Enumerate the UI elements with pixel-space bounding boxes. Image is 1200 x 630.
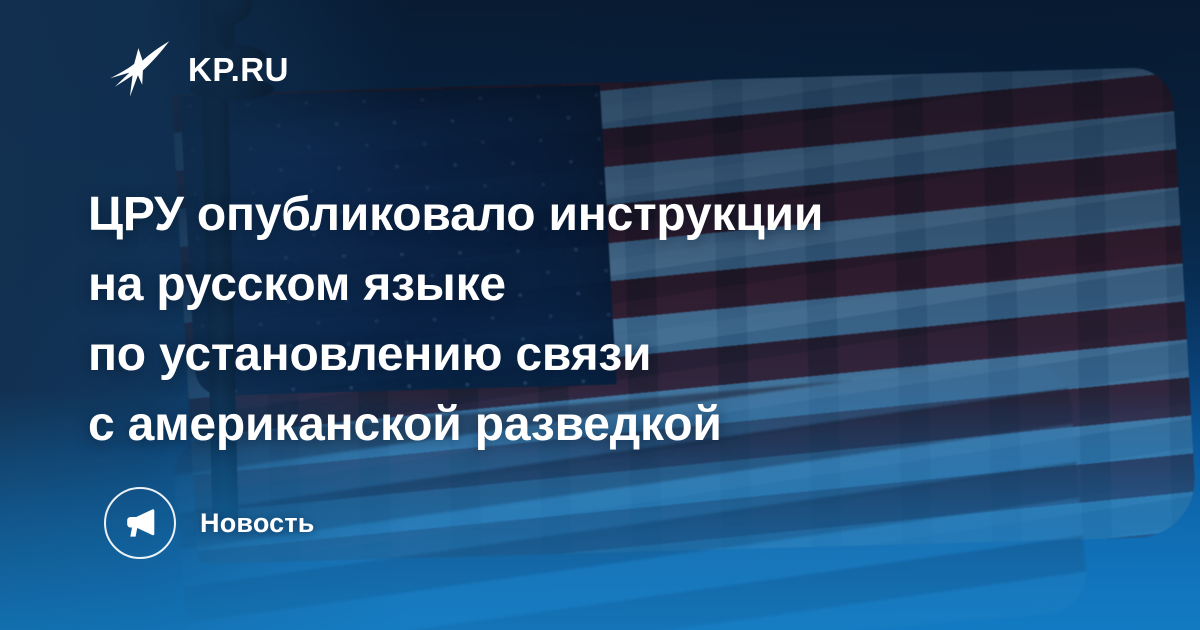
headline-line: с американской разведкой [88, 390, 1018, 460]
headline-line: ЦРУ опубликовало инструкции [88, 180, 1018, 250]
kp-swallow-bird-logo [108, 40, 170, 98]
status-badge-label: Новость [200, 508, 315, 539]
megaphone-icon [104, 487, 176, 559]
headline-line: на русском языке [88, 250, 1018, 320]
status-badge[interactable]: Новость [104, 487, 315, 559]
card-content: KP.RU ЦРУ опубликовало инструкции на рус… [0, 0, 1200, 630]
brand-name: KP.RU [188, 53, 289, 86]
news-share-card: KP.RU ЦРУ опубликовало инструкции на рус… [0, 0, 1200, 630]
brand-lockup[interactable]: KP.RU [108, 40, 289, 98]
headline-line: по установлению связи [88, 320, 1018, 390]
page-title: ЦРУ опубликовало инструкции на русском я… [88, 180, 1018, 460]
